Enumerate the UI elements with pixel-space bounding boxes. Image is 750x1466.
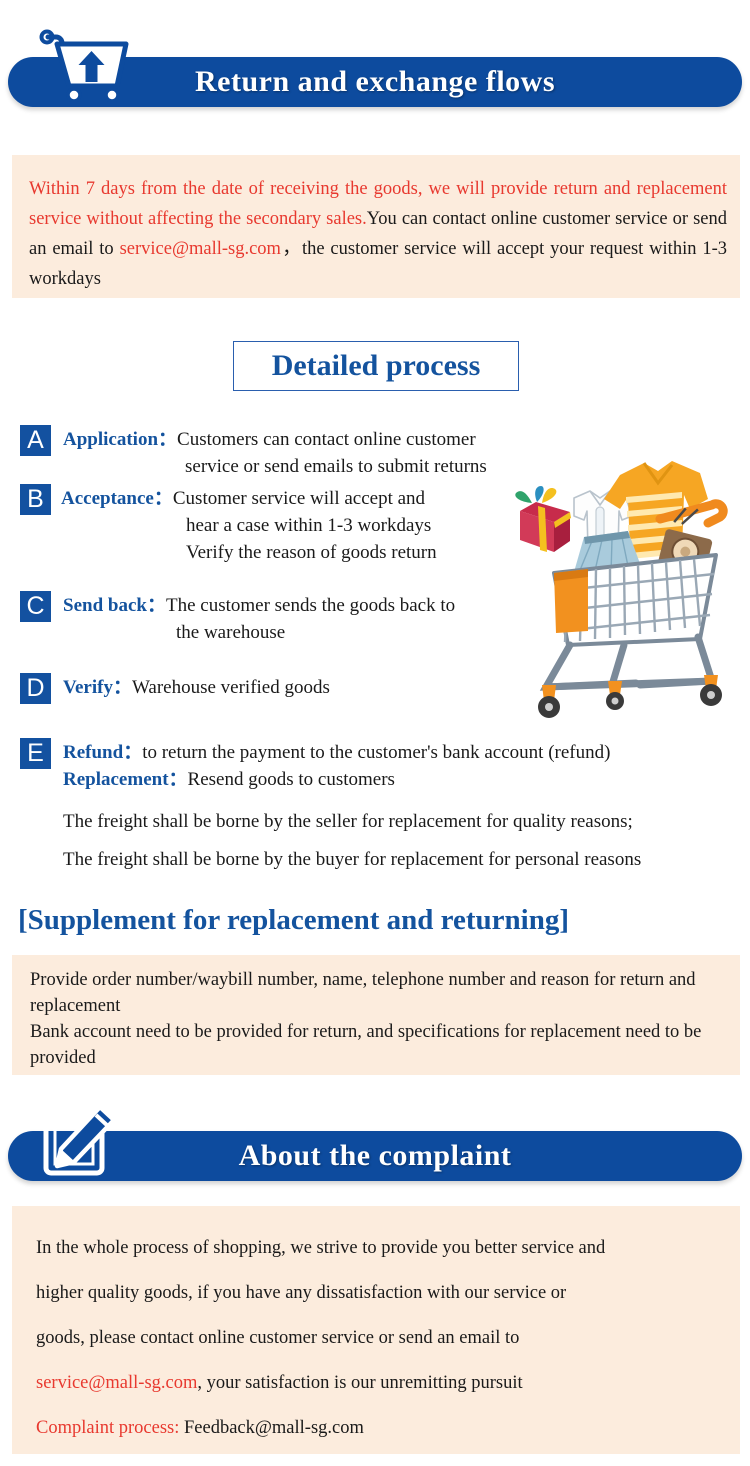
complaint-service-email[interactable]: service@mall-sg.com	[36, 1373, 197, 1393]
freight-note-1: The freight shall be borne by the seller…	[63, 808, 743, 835]
complaint-text: In the whole process of shopping, we str…	[36, 1226, 726, 1451]
step-text-c-line-2: the warehouse	[176, 622, 285, 643]
complaint-line-1: In the whole process of shopping, we str…	[36, 1226, 726, 1271]
detailed-process-title: Detailed process	[272, 349, 481, 383]
notepad-pencil-icon	[40, 1103, 120, 1181]
step-text-replacement: Resend goods to customers	[188, 769, 395, 790]
complaint-feedback-email[interactable]: Feedback@mall-sg.com	[184, 1418, 364, 1438]
intro-policy-box: Within 7 days from the date of receiving…	[12, 155, 740, 298]
step-text-b-line-1: Customer service will accept and	[173, 488, 425, 509]
step-label-refund: Refund	[63, 742, 123, 763]
step-text-refund: to return the payment to the customer's …	[142, 742, 610, 763]
complaint-line-4-tail: , your satisfaction is our unremitting p…	[197, 1373, 522, 1393]
supplement-line-1: Provide order number/waybill number, nam…	[30, 967, 736, 1019]
shopping-cart-with-goods-illustration	[512, 455, 744, 727]
step-separator: ：	[123, 742, 142, 763]
step-badge-d: D	[20, 673, 51, 704]
intro-service-email[interactable]: service@mall-sg.com	[120, 239, 281, 259]
step-text-b-line-2: hear a case within 1-3 workdays	[186, 515, 431, 536]
supplement-line-2: Bank account need to be provided for ret…	[30, 1019, 736, 1071]
freight-note-2: The freight shall be borne by the buyer …	[63, 846, 750, 873]
step-text-d-line-1: Warehouse verified goods	[132, 677, 330, 698]
step-text-a-line-2: service or send emails to submit returns	[185, 456, 487, 477]
step-separator: ：	[147, 595, 166, 616]
step-separator: ：	[158, 429, 177, 450]
step-label-replacement: Replacement	[63, 769, 169, 790]
step-badge-b: B	[20, 484, 51, 515]
complaint-line-3: goods, please contact online customer se…	[36, 1316, 726, 1361]
supplement-title: [Supplement for replacement and returnin…	[18, 904, 569, 937]
step-text-c-line-1: The customer sends the goods back to	[166, 595, 455, 616]
step-separator: ：	[113, 677, 132, 698]
step-badge-c: C	[20, 591, 51, 622]
complaint-line-2: higher quality goods, if you have any di…	[36, 1271, 726, 1316]
step-badge-a: A	[20, 425, 51, 456]
shopping-cart-upload-icon	[38, 27, 150, 102]
step-label-application: Application	[63, 429, 158, 450]
step-separator: ：	[169, 769, 188, 790]
step-label-send-back: Send back	[63, 595, 147, 616]
return-exchange-policy-page: Return and exchange flows Within 7 days …	[0, 0, 750, 1466]
step-label-verify: Verify	[63, 677, 113, 698]
step-text-b-line-3: Verify the reason of goods return	[186, 542, 437, 563]
complaint-process-label: Complaint process:	[36, 1418, 179, 1438]
intro-policy-text: Within 7 days from the date of receiving…	[29, 174, 727, 294]
complaint-box: In the whole process of shopping, we str…	[12, 1206, 740, 1454]
step-separator: ：	[154, 488, 173, 509]
detailed-process-title-box: Detailed process	[233, 341, 519, 391]
cart-basket-graphic	[554, 555, 716, 645]
supplement-box: Provide order number/waybill number, nam…	[12, 955, 740, 1075]
step-text-a-line-1: Customers can contact online customer	[177, 429, 476, 450]
supplement-text: Provide order number/waybill number, nam…	[30, 967, 736, 1071]
gift-box-graphic	[515, 486, 571, 552]
step-label-acceptance: Acceptance	[61, 488, 154, 509]
step-badge-e: E	[20, 738, 51, 769]
